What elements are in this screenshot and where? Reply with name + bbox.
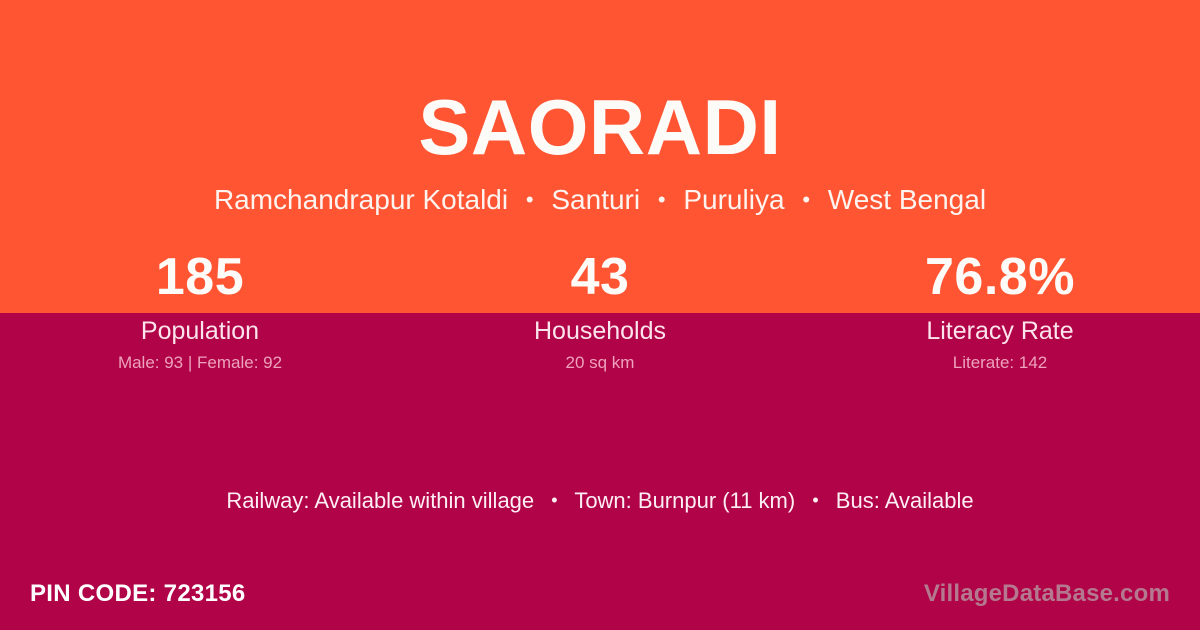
amenities-line: Railway: Available within village • Town… bbox=[0, 483, 1200, 518]
bullet-separator-icon: • bbox=[648, 180, 676, 220]
breadcrumb-item-state: West Bengal bbox=[828, 184, 986, 215]
breadcrumb-item-district: Puruliya bbox=[683, 184, 784, 215]
stat-sublabel: 20 sq km bbox=[400, 352, 800, 374]
breadcrumb: Ramchandrapur Kotaldi • Santuri • Puruli… bbox=[0, 180, 1200, 220]
site-watermark: VillageDataBase.com bbox=[924, 578, 1170, 610]
stat-value: 76.8% bbox=[800, 243, 1200, 313]
amenity-railway: Railway: Available within village bbox=[226, 488, 534, 513]
page-title: SAORADI bbox=[0, 80, 1200, 174]
stat-literacy-rate: 76.8% Literacy Rate Literate: 142 bbox=[800, 243, 1200, 388]
bullet-separator-icon: • bbox=[792, 180, 820, 220]
footer: PIN CODE: 723156 VillageDataBase.com bbox=[0, 572, 1200, 616]
stat-label: Literacy Rate bbox=[800, 315, 1200, 347]
village-info-card: SAORADI Ramchandrapur Kotaldi • Santuri … bbox=[0, 0, 1200, 630]
breadcrumb-item-block: Santuri bbox=[551, 184, 640, 215]
stat-sublabel: Male: 93 | Female: 92 bbox=[0, 352, 400, 374]
stats-row: 185 Population Male: 93 | Female: 92 43 … bbox=[0, 243, 1200, 388]
breadcrumb-item-village: Ramchandrapur Kotaldi bbox=[214, 184, 508, 215]
bullet-separator-icon: • bbox=[516, 180, 544, 220]
amenity-bus: Bus: Available bbox=[836, 488, 974, 513]
stat-households: 43 Households 20 sq km bbox=[400, 243, 800, 388]
amenity-town: Town: Burnpur (11 km) bbox=[574, 488, 795, 513]
stat-value: 43 bbox=[400, 243, 800, 313]
stat-sublabel: Literate: 142 bbox=[800, 352, 1200, 374]
stat-value: 185 bbox=[0, 243, 400, 313]
bullet-separator-icon: • bbox=[540, 483, 568, 517]
stat-label: Households bbox=[400, 315, 800, 347]
pin-code: PIN CODE: 723156 bbox=[30, 578, 246, 610]
bullet-separator-icon: • bbox=[801, 483, 829, 517]
stat-population: 185 Population Male: 93 | Female: 92 bbox=[0, 243, 400, 388]
stat-label: Population bbox=[0, 315, 400, 347]
